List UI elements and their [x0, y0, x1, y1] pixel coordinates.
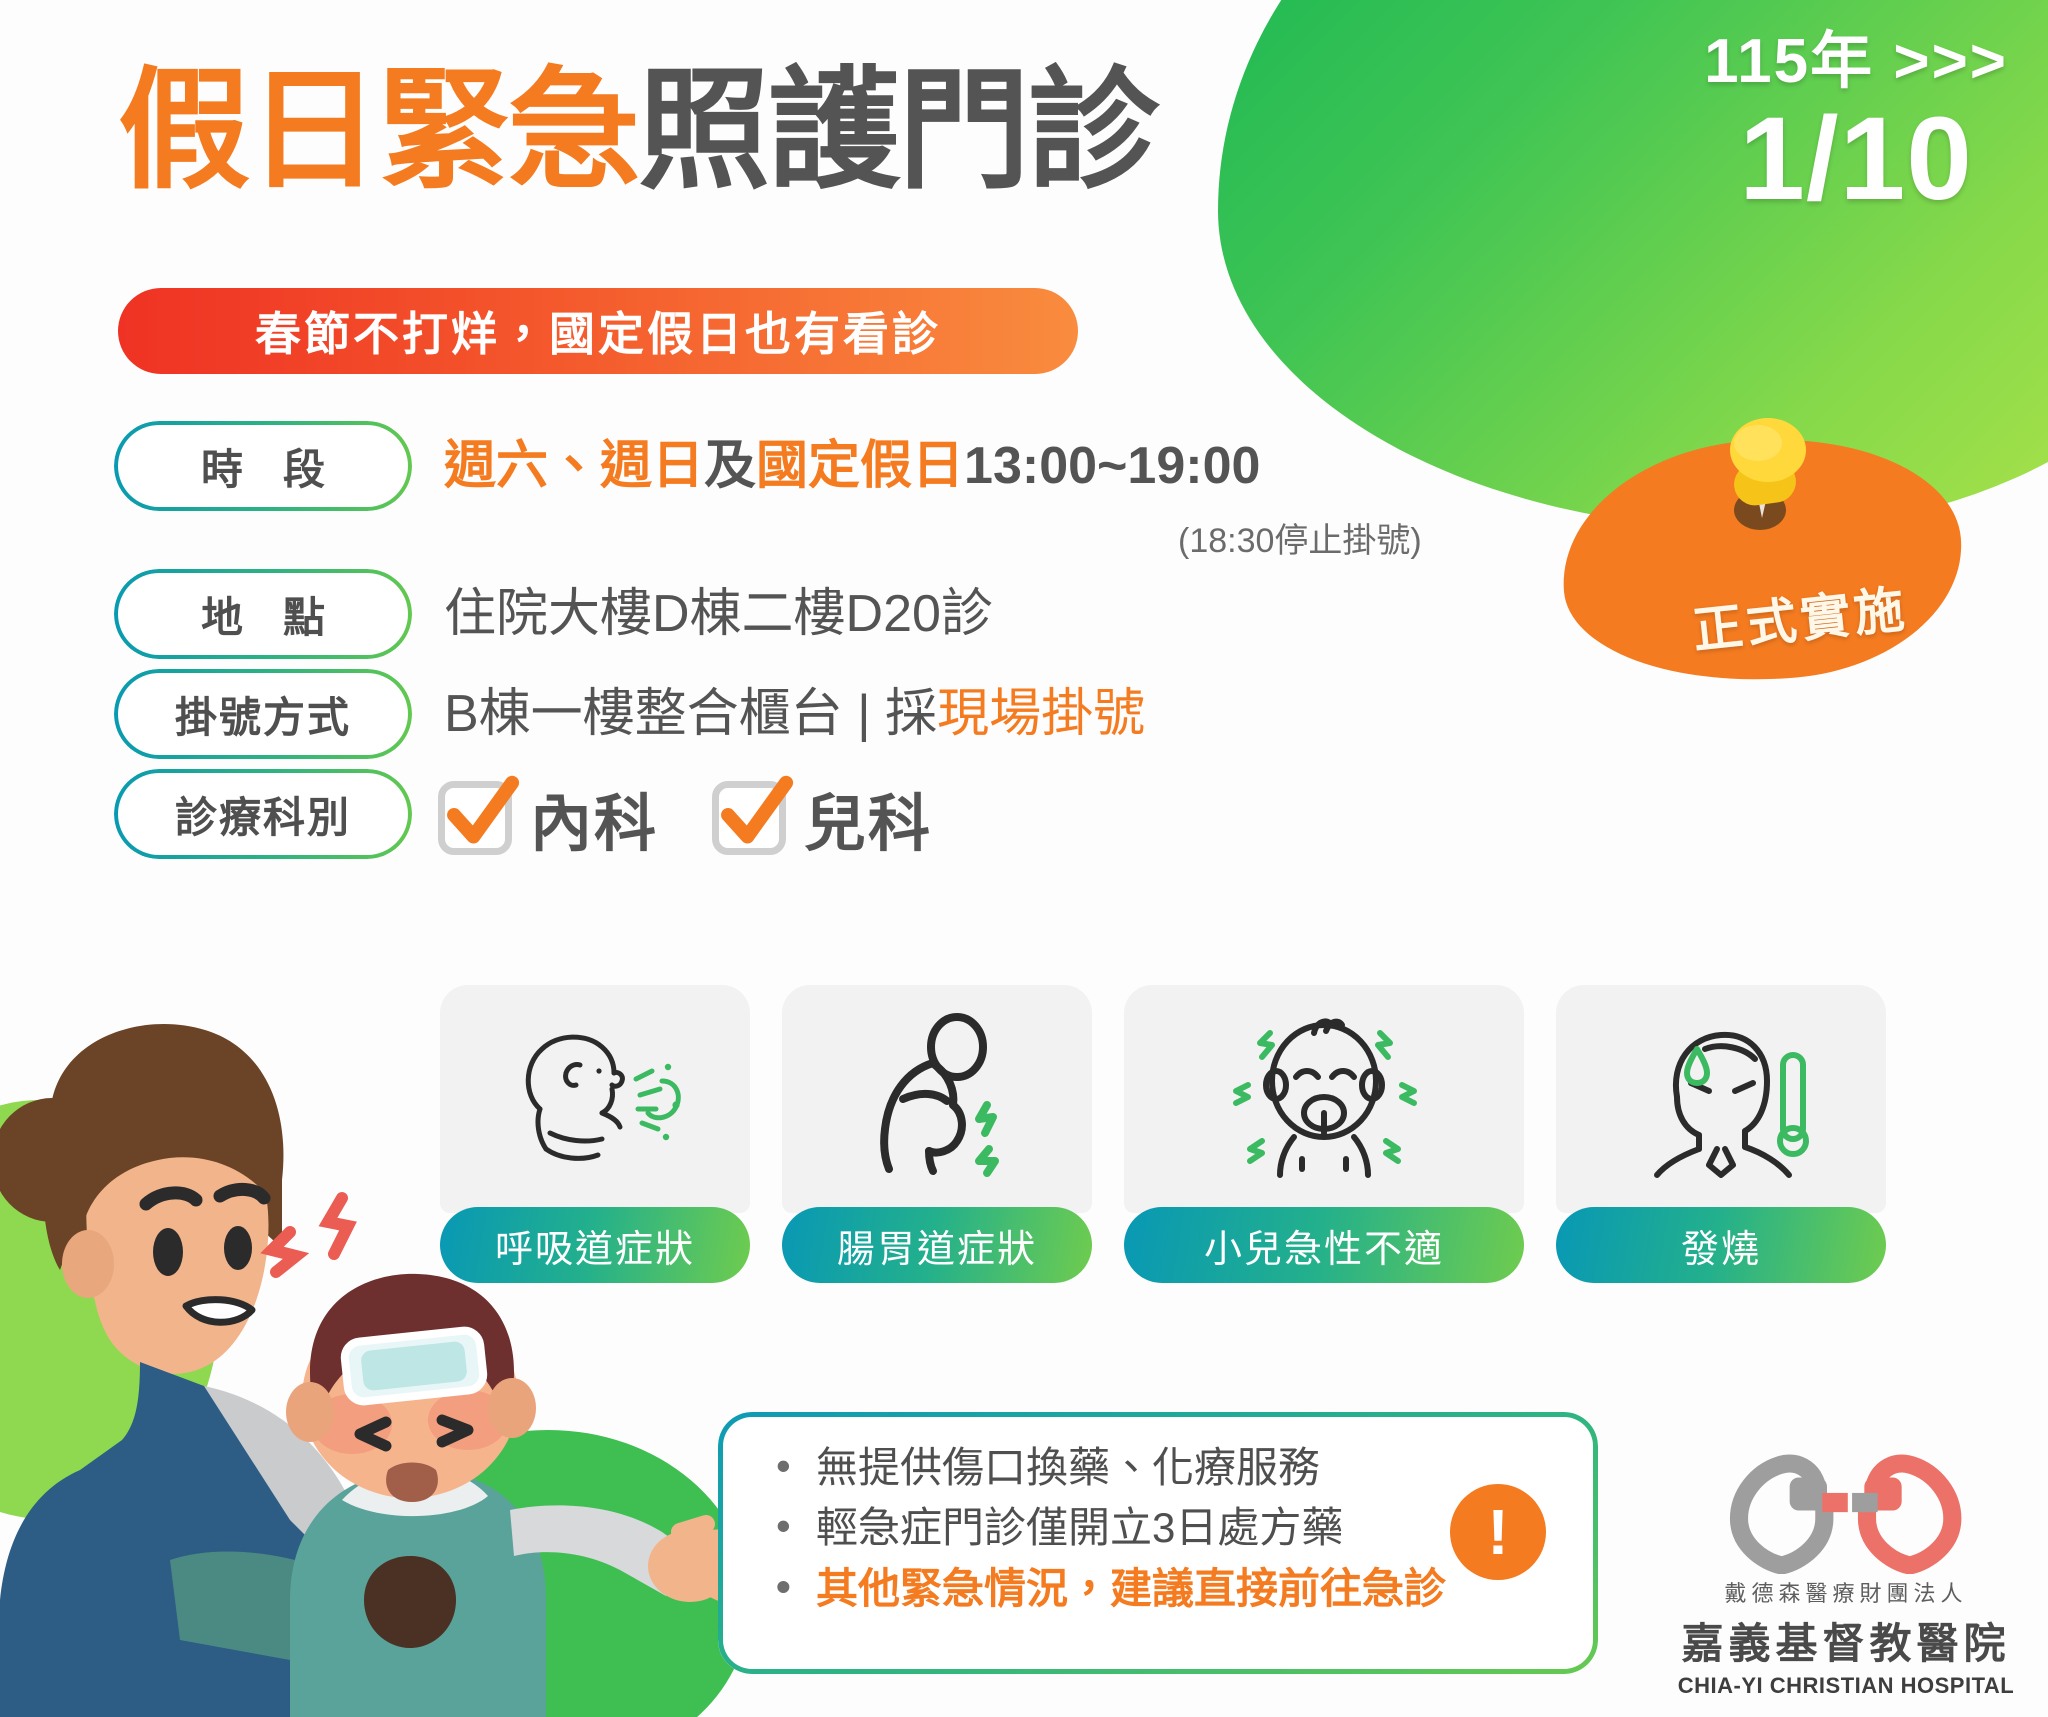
checkbox-internal-medicine[interactable]: [438, 781, 512, 855]
label-pill-time: 時段: [118, 425, 408, 507]
symptom-label-gastro: 腸胃道症狀: [782, 1207, 1092, 1283]
label-pill-department: 診療科別: [118, 773, 408, 855]
symptom-label-fever: 發燒: [1556, 1207, 1886, 1283]
info-row-department: 診療科別 內科 兒科: [118, 773, 1518, 863]
time-days-primary: 週六、週日: [444, 437, 704, 495]
department-label-pediatrics: 兒科: [804, 773, 932, 863]
symptom-card-fever: 發燒: [1556, 985, 1886, 1283]
pushpin-icon: [1698, 410, 1818, 560]
date-badge: 115年 >>> 1/10: [1704, 28, 2008, 222]
fever-thermometer-icon: [1621, 1009, 1821, 1189]
symptom-icon-wrap: [440, 985, 750, 1213]
info-row-time: 時段 週六、週日及國定假日13:00~19:00 (18:30停止掛號): [118, 425, 1518, 507]
check-icon: [713, 772, 799, 858]
symptom-card-pediatric: 小兒急性不適: [1124, 985, 1524, 1283]
registration-method: 現場掛號: [937, 685, 1145, 743]
symptom-card-list: 呼吸道症狀: [440, 985, 1886, 1283]
label-pill-department-text: 診療科別: [175, 784, 351, 845]
symptom-label-respiratory: 呼吸道症狀: [440, 1207, 750, 1283]
department-options: 內科 兒科: [438, 773, 986, 863]
page-title: 假日緊急照護門診: [118, 58, 1158, 203]
info-row-location: 地點 住院大樓D棟二樓D20診: [118, 573, 1518, 655]
info-value-location: 住院大樓D棟二樓D20診: [444, 573, 993, 652]
symptom-icon-wrap: [782, 985, 1092, 1213]
time-cutoff-note: (18:30停止掛號): [1178, 513, 1422, 562]
info-value-time: 週六、週日及國定假日13:00~19:00: [444, 425, 1260, 504]
notes-box: 無提供傷口換藥、化療服務 輕急症門診僅開立3日處方藥 其他緊急情況，建議直接前往…: [718, 1412, 1598, 1674]
label-pill-location: 地點: [118, 573, 408, 655]
info-value-registration: B棟一樓整合櫃台 | 採現場掛號: [444, 673, 1145, 752]
symptom-icon-wrap: [1556, 985, 1886, 1213]
department-label-internal: 內科: [530, 773, 658, 863]
logo-name-en: CHIA-YI CHRISTIAN HOSPITAL: [1676, 1673, 2016, 1699]
page-title-gray: 照護門診: [638, 57, 1158, 204]
page-title-orange: 假日緊急: [118, 57, 638, 204]
date-value: 1/10: [1704, 98, 2008, 222]
check-icon: [439, 772, 525, 858]
checkbox-pediatrics[interactable]: [712, 781, 786, 855]
registration-counter: B棟一樓整合櫃台 | 採: [444, 685, 937, 743]
info-row-registration: 掛號方式 B棟一樓整合櫃台 | 採現場掛號: [118, 673, 1518, 755]
label-pill-registration-text: 掛號方式: [175, 684, 351, 745]
exclamation-glyph: !: [1487, 1495, 1508, 1569]
sub-banner: 春節不打烊，國定假日也有看診: [118, 288, 1078, 374]
poster-canvas: 115年 >>> 1/10 正式實施 假日緊急照護門診 春節不打烊，國定假日也有…: [0, 0, 2048, 1717]
department-option-internal[interactable]: 內科: [438, 773, 658, 863]
hospital-logo: 戴德森醫療財團法人 嘉義基督教醫院 CHIA-YI CHRISTIAN HOSP…: [1676, 1446, 2016, 1699]
time-days-holiday: 國定假日: [756, 437, 964, 495]
time-conjunction: 及: [704, 437, 756, 495]
coughing-person-icon: [490, 1009, 700, 1189]
symptom-card-respiratory: 呼吸道症狀: [440, 985, 750, 1283]
label-pill-location-text: 地點: [161, 584, 365, 645]
logo-name-zh: 嘉義基督教醫院: [1676, 1610, 2016, 1671]
info-list: 時段 週六、週日及國定假日13:00~19:00 (18:30停止掛號) 地點 …: [118, 425, 1518, 881]
double-heart-icon: [1707, 1446, 1984, 1574]
time-hours: 13:00~19:00: [964, 437, 1260, 495]
stomachache-person-icon: [837, 1009, 1037, 1189]
exclamation-icon: !: [1450, 1484, 1546, 1580]
label-pill-registration: 掛號方式: [118, 673, 408, 755]
department-option-pediatrics[interactable]: 兒科: [712, 773, 932, 863]
crying-baby-icon: [1214, 1009, 1434, 1189]
date-year-label: 115年 >>>: [1704, 28, 2008, 96]
symptom-label-pediatric: 小兒急性不適: [1124, 1207, 1524, 1283]
label-pill-time-text: 時段: [161, 436, 365, 497]
symptom-icon-wrap: [1124, 985, 1524, 1213]
sub-banner-text: 春節不打烊，國定假日也有看診: [255, 298, 941, 364]
symptom-card-gastro: 腸胃道症狀: [782, 985, 1092, 1283]
logo-org-line: 戴德森醫療財團法人: [1676, 1576, 2016, 1608]
